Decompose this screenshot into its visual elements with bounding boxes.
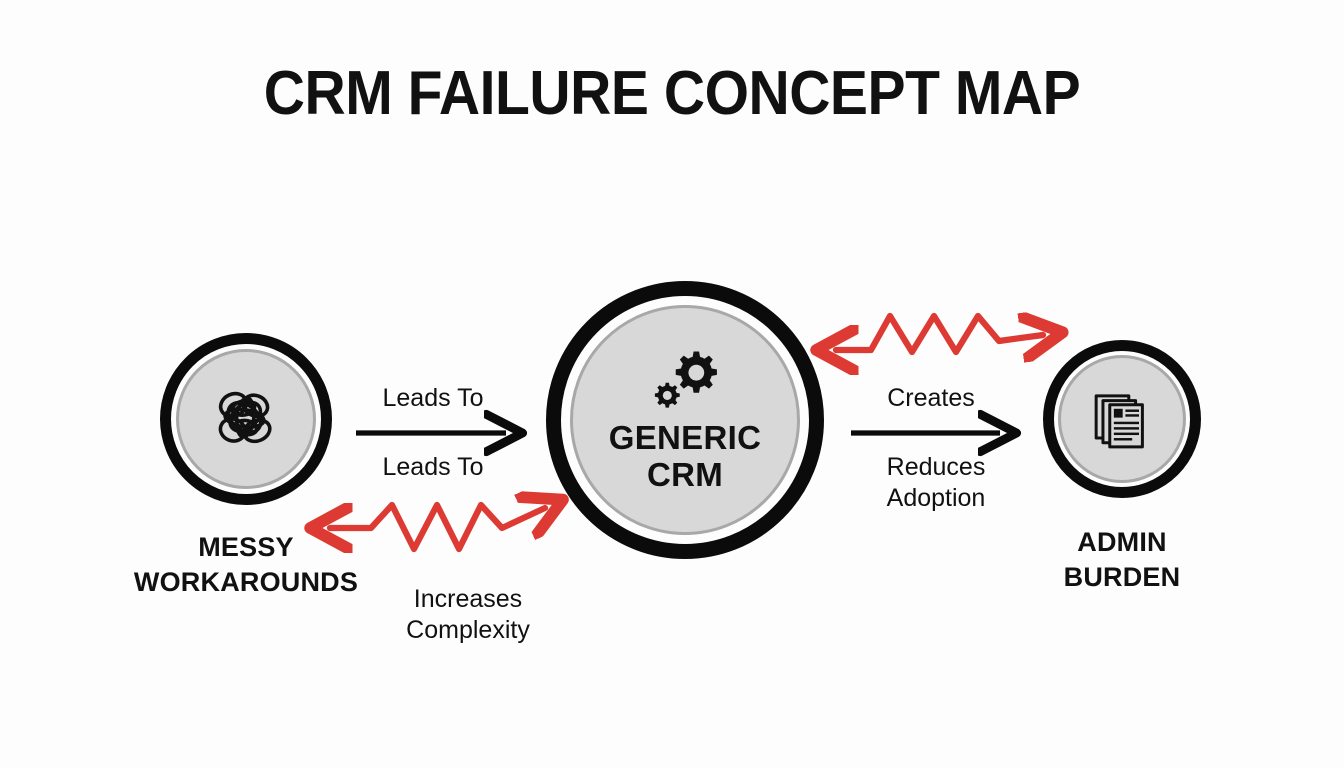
concept-map-canvas: CRM FAILURE CONCEPT MAP xyxy=(0,0,1344,768)
node-label-admin-burden: ADMIN BURDEN xyxy=(977,525,1267,594)
node-generic-crm[interactable]: GENERIC CRM xyxy=(546,281,824,559)
stacked-documents-icon xyxy=(1088,385,1156,453)
node-inner-disc: GENERIC CRM xyxy=(570,305,800,535)
zigzag-crm-admin xyxy=(836,316,1043,352)
node-label-messy-workarounds: MESSY WORKAROUNDS xyxy=(74,530,418,599)
edge-label-increases-complexity: Increases Complexity xyxy=(368,584,568,646)
edge-label-leads-to-above: Leads To xyxy=(333,383,533,414)
gears-icon xyxy=(650,346,720,408)
page-title: CRM FAILURE CONCEPT MAP xyxy=(54,58,1290,129)
edge-label-reduces-adoption: Reduces Adoption xyxy=(836,452,1036,514)
node-messy-workarounds[interactable]: MESSY WORKAROUNDS xyxy=(160,333,332,505)
node-admin-burden[interactable]: ADMIN BURDEN xyxy=(1043,340,1201,498)
node-inner-disc xyxy=(176,349,316,489)
tangled-scribble-icon xyxy=(207,380,285,458)
edge-label-creates: Creates xyxy=(831,383,1031,414)
edge-label-leads-to-below: Leads To xyxy=(333,452,533,483)
node-label-generic-crm: GENERIC CRM xyxy=(609,420,761,494)
node-inner-disc xyxy=(1058,355,1186,483)
